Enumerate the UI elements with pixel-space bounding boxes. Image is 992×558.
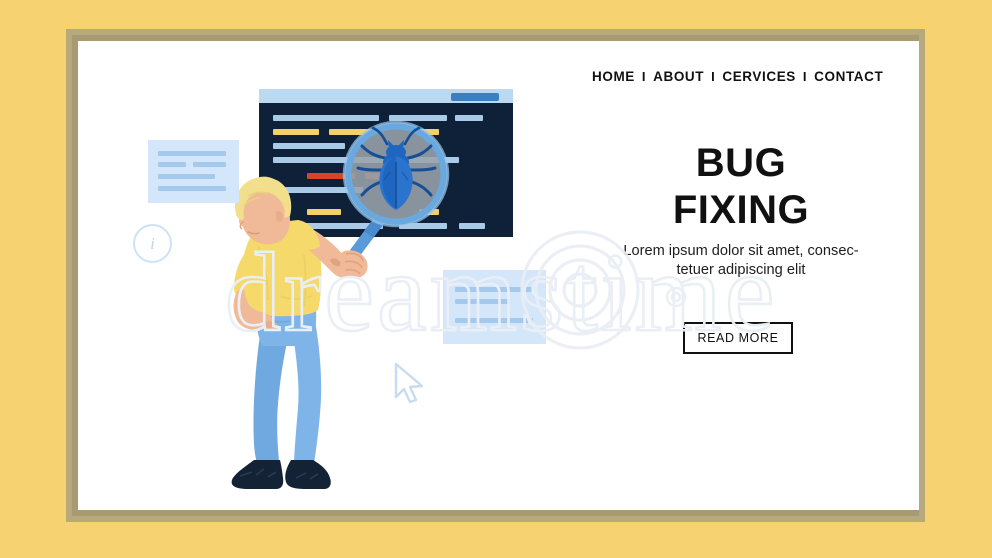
card-text-line [158,162,186,167]
card-text-line [455,299,510,304]
card-text-line [193,162,226,167]
developer-character [218,176,393,492]
read-more-button[interactable]: READ MORE [683,322,793,354]
cursor-arrow-icon [388,360,430,404]
card-text-line [455,318,533,323]
subtitle-line-1: Lorem ipsum dolor sit amet, consec- [596,242,886,261]
left-card [148,140,239,203]
card-text-line [455,287,533,292]
nav-item-contact[interactable]: CONTACT [807,69,890,84]
nav-item-cervices[interactable]: CERVICES [715,69,803,84]
page-title: BUG FIXING [596,140,886,234]
nav-item-home[interactable]: HOME [585,69,642,84]
headline-line-2: FIXING [596,187,886,234]
info-icon[interactable]: i [133,224,172,263]
read-more-label: READ MORE [697,331,778,345]
code-window-action-button[interactable] [451,93,499,101]
card-text-line [158,186,226,191]
subtitle-line-2: tetuer adipiscing elit [596,261,886,280]
card-text-line [158,151,226,156]
bottom-card [443,270,546,344]
info-icon-label: i [150,234,155,254]
person-svg [218,176,393,492]
headline-line-1: BUG [596,140,886,187]
page-subtitle: Lorem ipsum dolor sit amet, consec- tetu… [596,242,886,280]
card-text-line [158,174,215,179]
white-canvas: i HOMEIABOUTICERVICESICONTACT BUG FIXING… [78,41,919,510]
top-navigation[interactable]: HOMEIABOUTICERVICESICONTACT [585,69,890,84]
nav-item-about[interactable]: ABOUT [646,69,711,84]
illustration-page: i HOMEIABOUTICERVICESICONTACT BUG FIXING… [0,0,992,558]
code-line-highlight [273,129,319,135]
code-window-titlebar [259,89,513,103]
